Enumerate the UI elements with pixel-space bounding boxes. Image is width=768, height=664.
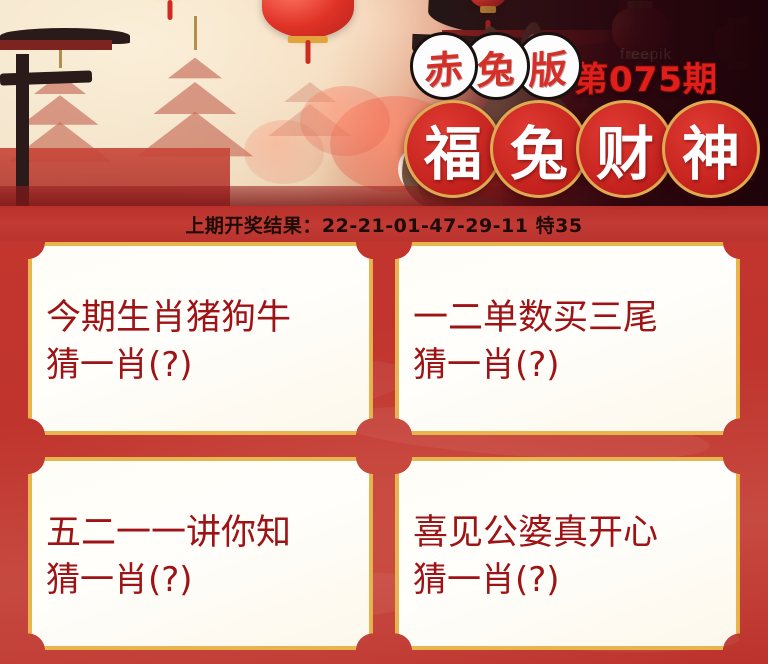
riddle-line-1: 今期生肖猪狗牛: [46, 295, 361, 343]
riddle-line-1: 一二单数买三尾: [413, 295, 728, 343]
riddle-line-1: 五二一一讲你知: [46, 510, 361, 558]
riddle-card[interactable]: 喜见公婆真开心 猜一肖(?): [395, 457, 740, 650]
main-title: 福 兔 财 神: [404, 100, 748, 198]
riddle-card[interactable]: 五二一一讲你知 猜一肖(?): [28, 457, 373, 650]
title-char: 神: [682, 107, 740, 191]
title-badge: 神: [662, 100, 760, 198]
riddle-line-2: 猜一肖(?): [46, 557, 361, 603]
title-badge: 兔: [490, 100, 588, 198]
lantern-icon: [262, 0, 354, 38]
edition-bubble: 赤: [410, 32, 478, 100]
blossom-tree-icon: [244, 120, 324, 184]
riddle-line-1: 喜见公婆真开心: [413, 510, 728, 558]
riddle-line-2: 猜一肖(?): [46, 342, 361, 388]
result-text: 上期开奖结果：22-21-01-47-29-11 特35: [185, 211, 582, 238]
riddle-card-grid: 今期生肖猪狗牛 猜一肖(?) 一二单数买三尾 猜一肖(?) 五二一一讲你知 猜一…: [0, 242, 768, 650]
period-number: 第075期: [574, 52, 718, 101]
title-badge: 财: [576, 100, 674, 198]
edition-badge: 赤 兔 版: [410, 32, 566, 100]
edition-char: 赤: [424, 37, 464, 95]
riddle-card[interactable]: 一二单数买三尾 猜一肖(?): [395, 242, 740, 435]
title-char: 福: [424, 107, 482, 191]
riddle-line-2: 猜一肖(?): [413, 342, 728, 388]
riddle-card[interactable]: 今期生肖猪狗牛 猜一肖(?): [28, 242, 373, 435]
edition-char: 兔: [476, 37, 516, 95]
title-char: 财: [596, 107, 654, 191]
result-banner: 上期开奖结果：22-21-01-47-29-11 特35: [0, 206, 768, 242]
torii-roof-accent: [0, 40, 112, 50]
title-block: 赤 兔 版 第075期 福 兔 财 神: [404, 24, 768, 204]
poster-root: freepik freepik 赤 兔 版 第075期 福 兔 财: [0, 0, 768, 664]
title-badge: 福: [404, 100, 502, 198]
riddle-line-2: 猜一肖(?): [413, 557, 728, 603]
edition-char: 版: [528, 37, 568, 95]
title-char: 兔: [510, 107, 568, 191]
